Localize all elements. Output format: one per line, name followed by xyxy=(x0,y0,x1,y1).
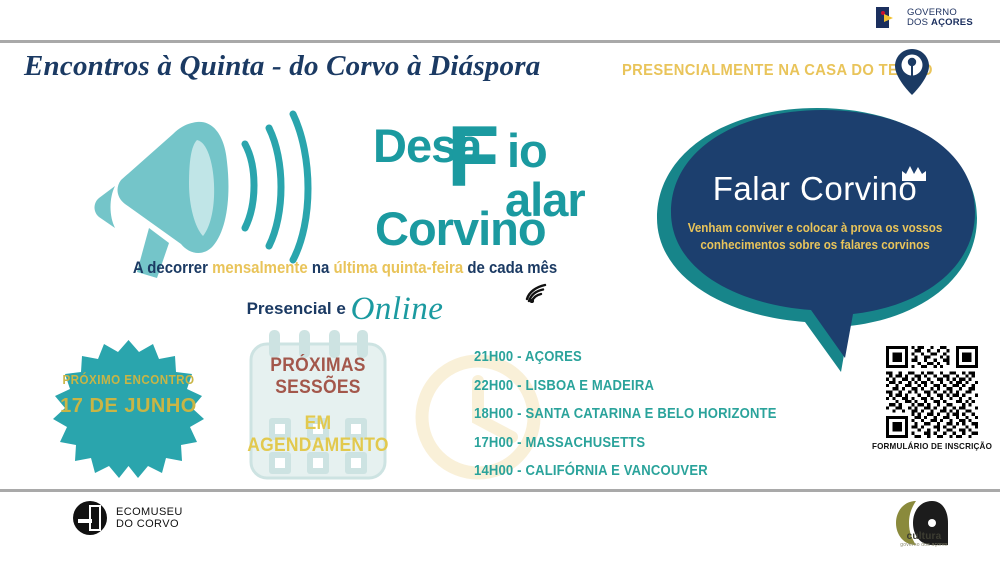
crown-icon xyxy=(899,162,929,182)
list-item: 18H00 - SANTA CATARINA E BELO HORIZONTE xyxy=(474,407,771,422)
bubble-subtitle: Venham conviver e colocar à prova os vos… xyxy=(671,220,959,253)
event-logotype: Desa F io alar Corvino xyxy=(355,112,685,257)
list-item: 22H00 - LISBOA E MADEIRA xyxy=(474,379,771,394)
logotype-io: io xyxy=(507,127,547,174)
governo-logo-text: GOVERNO DOS AÇORES xyxy=(907,8,973,28)
tagline-line2: Presencial e Online xyxy=(0,286,690,323)
ecomuseu-line2: DO CORVO xyxy=(116,518,179,530)
governo-line2-prefix: DOS xyxy=(907,17,931,28)
qr-caption: FORMULÁRIO DE INSCRIÇÃO xyxy=(869,441,994,451)
tagline-line1: A decorrer mensalmente na última quinta-… xyxy=(41,258,648,278)
ecomuseu-logo: ECOMUSEU DO CORVO xyxy=(72,500,183,536)
poster-canvas: GOVERNO DOS AÇORES Encontros à Quinta - … xyxy=(0,0,1000,563)
tagline-seg3: na xyxy=(308,258,334,277)
governo-line2-bold: AÇORES xyxy=(931,17,973,28)
ecomuseu-line1: ECOMUSEU xyxy=(116,506,183,518)
bubble-content: Falar Corvino Venham conviver e colocar … xyxy=(660,170,970,253)
tagline-seg5: de cada mês xyxy=(463,258,557,277)
session-times-list: 21H00 - AÇORES 22H00 - LISBOA E MADEIRA … xyxy=(474,350,804,493)
list-item: 17H00 - MASSACHUSETTS xyxy=(474,436,771,451)
header-divider xyxy=(0,40,1000,43)
page-title: Encontros à Quinta - do Corvo à Diáspora xyxy=(24,50,540,83)
calendar-line1: PRÓXIMAS SESSÕES xyxy=(235,355,401,399)
calendar-text: PRÓXIMAS SESSÕES EM AGENDAMENTO xyxy=(228,355,408,457)
governo-flag-icon xyxy=(876,7,902,28)
list-item: 21H00 - AÇORES xyxy=(474,350,771,365)
calendar-line2: EM AGENDAMENTO xyxy=(235,413,401,457)
wifi-icon xyxy=(523,281,549,303)
badge-line2: 17 DE JUNHO xyxy=(36,395,221,418)
megaphone-icon xyxy=(85,100,345,280)
badge-text: PRÓXIMO ENCONTRO 17 DE JUNHO xyxy=(36,373,221,418)
cultura-subtext: governo dos açores xyxy=(890,542,958,548)
logotype-corvino: Corvino xyxy=(375,205,546,252)
tagline-presencial: Presencial e xyxy=(247,299,351,318)
tagline-online: Online xyxy=(351,291,444,327)
tagline-seg1: A decorrer xyxy=(133,258,212,277)
qr-code[interactable] xyxy=(886,346,978,438)
badge-line1: PRÓXIMO ENCONTRO xyxy=(42,373,214,387)
tagline-seg2: mensalmente xyxy=(212,258,308,277)
list-item: 14H00 - CALIFÓRNIA E VANCOUVER xyxy=(474,464,771,479)
ecomuseu-mark-icon xyxy=(72,500,108,536)
location-pin-icon xyxy=(893,48,931,96)
ecomuseu-text: ECOMUSEU DO CORVO xyxy=(116,506,183,531)
logotype-big-f: F xyxy=(447,122,500,193)
presential-note: PRESENCIALMENTE NA CASA DO TEMPO xyxy=(622,62,933,80)
tagline-seg4: última quinta-feira xyxy=(334,258,464,277)
cultura-wordmark: cultura xyxy=(890,531,958,542)
governo-acores-logo: GOVERNO DOS AÇORES xyxy=(876,7,973,28)
